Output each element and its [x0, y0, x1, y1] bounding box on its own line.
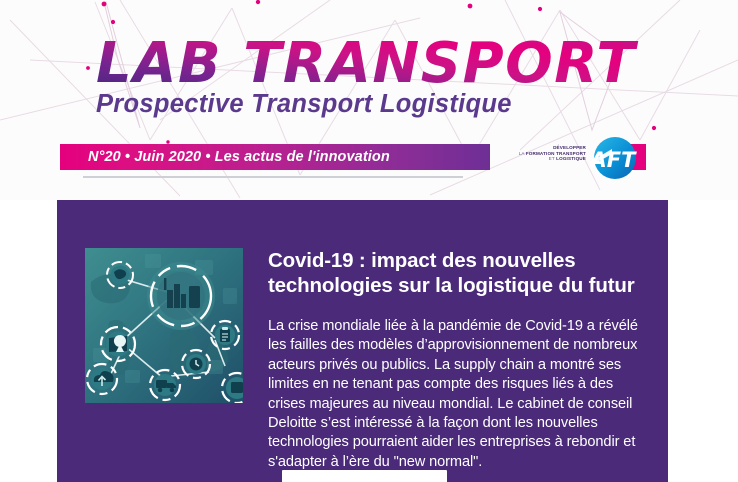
article-panel: Covid-19 : impact des nouvelles technolo…: [57, 200, 668, 482]
issue-banner-text: N°20 • Juin 2020 • Les actus de l'innova…: [88, 149, 390, 165]
registered-trademark-icon: ®: [612, 39, 623, 56]
masthead-subtitle: Prospective Transport Logistique: [96, 90, 512, 119]
logo-wordmark-text: LAB TRANSPORT: [96, 31, 638, 96]
supply-chain-network-image: [85, 248, 243, 403]
read-more-button[interactable]: [282, 470, 447, 482]
article-title: Covid-19 : impact des nouvelles technolo…: [268, 248, 652, 298]
newsletter-page: LAB TRANSPORT ® Prospective Transport Lo…: [0, 0, 738, 482]
issue-banner: N°20 • Juin 2020 • Les actus de l'innova…: [60, 144, 490, 170]
masthead: LAB TRANSPORT ® Prospective Transport Lo…: [0, 0, 738, 200]
masthead-divider: [83, 176, 463, 178]
article-thumbnail[interactable]: [85, 248, 243, 403]
aft-tagline: DÉVELOPPER LA FORMATION TRANSPORT ET LOG…: [519, 145, 586, 162]
aft-logo[interactable]: DÉVELOPPER LA FORMATION TRANSPORT ET LOG…: [493, 136, 638, 182]
article-content: Covid-19 : impact des nouvelles technolo…: [268, 248, 652, 472]
aft-mark-icon: AFT: [588, 136, 638, 180]
article-body-text: La crise mondiale liée à la pandémie de …: [268, 317, 652, 472]
aft-tagline-line-3: ET LOGISTIQUE: [519, 156, 586, 162]
